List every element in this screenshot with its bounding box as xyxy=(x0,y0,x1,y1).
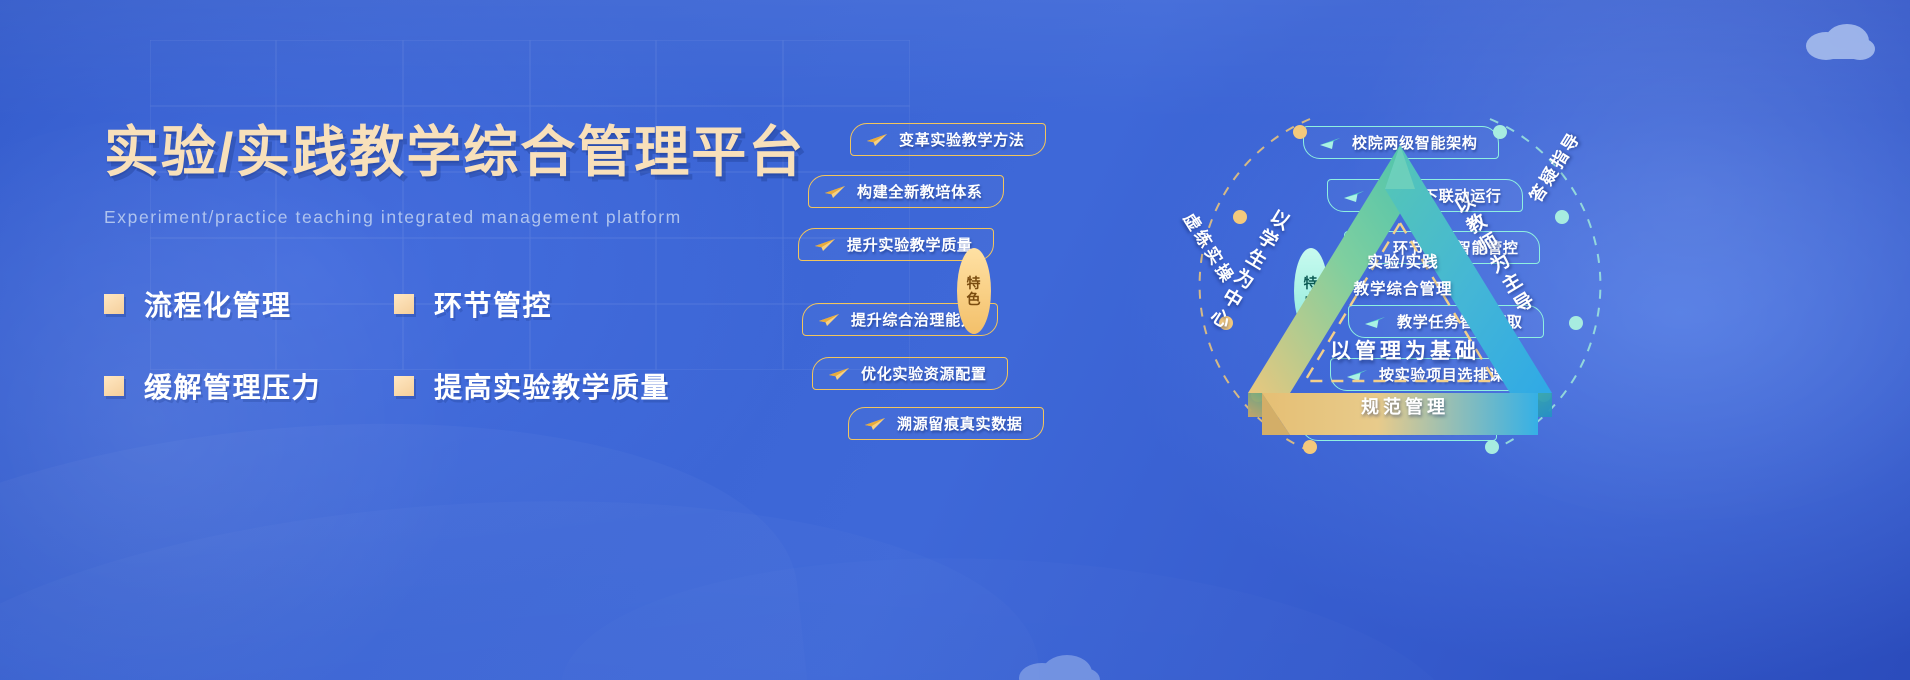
pill-label: 变革实验教学方法 xyxy=(899,129,1025,150)
left-pill-0[interactable]: 变革实验教学方法 xyxy=(850,123,1046,156)
paper-plane-icon xyxy=(818,313,840,327)
cloud-icon-bottom-center xyxy=(1012,646,1104,680)
hero-banner: 实验/实践教学综合管理平台 Experiment/practice teachi… xyxy=(0,0,1910,680)
feature-item-2: 缓解管理压力 xyxy=(104,366,384,406)
paper-plane-icon xyxy=(866,133,888,147)
feature-list: 流程化管理 环节管控 缓解管理压力 提高实验教学质量 xyxy=(104,284,864,406)
marker-char-2: 色 xyxy=(967,291,982,307)
pill-label: 构建全新教培体系 xyxy=(857,181,983,202)
feature-label: 提高实验教学质量 xyxy=(434,366,670,406)
hero-copy: 实验/实践教学综合管理平台 Experiment/practice teachi… xyxy=(104,118,864,406)
diagram-core-text: 实验/实践 教学综合管理 xyxy=(1318,249,1488,303)
paper-plane-icon xyxy=(814,238,836,252)
left-pill-4[interactable]: 优化实验资源配置 xyxy=(812,357,1008,390)
feature-item-1: 环节管控 xyxy=(394,284,864,324)
page-title: 实验/实践教学综合管理平台 xyxy=(104,118,864,187)
page-subtitle: Experiment/practice teaching integrated … xyxy=(104,207,864,228)
paper-plane-icon xyxy=(828,367,850,381)
triangle-edge-label-bottom: 以管理为基础 xyxy=(1260,335,1550,365)
core-line-2: 教学综合管理 xyxy=(1318,276,1488,303)
paper-plane-icon xyxy=(864,417,886,431)
pill-label: 提升实验教学质量 xyxy=(847,234,973,255)
cloud-icon-top-right xyxy=(1800,16,1876,62)
background-wave-2 xyxy=(0,464,1053,680)
bullet-square-icon xyxy=(394,376,414,396)
pill-label: 溯源留痕真实数据 xyxy=(897,413,1023,434)
feature-item-3: 提高实验教学质量 xyxy=(394,366,864,406)
orbit-label-bottom: 规范管理 xyxy=(1280,393,1530,419)
feature-label: 环节管控 xyxy=(434,284,552,324)
background-wave-3 xyxy=(553,537,1467,680)
paper-plane-icon xyxy=(824,185,846,199)
background-wave-1 xyxy=(0,376,819,680)
penrose-triangle-diagram: 虚练实操 答疑指导 规范管理 以学生为中心 以教师为主导 以管理为基础 实验/实… xyxy=(1150,95,1650,485)
left-pill-1[interactable]: 构建全新教培体系 xyxy=(808,175,1004,208)
pill-label: 提升综合治理能力 xyxy=(851,309,977,330)
bullet-square-icon xyxy=(104,294,124,314)
left-marker-tese: 特 色 xyxy=(957,248,991,334)
marker-char-1: 特 xyxy=(967,275,982,291)
bullet-square-icon xyxy=(394,294,414,314)
feature-label: 缓解管理压力 xyxy=(144,366,321,406)
left-pill-5[interactable]: 溯源留痕真实数据 xyxy=(848,407,1044,440)
core-line-1: 实验/实践 xyxy=(1318,249,1488,276)
pill-label: 优化实验资源配置 xyxy=(861,363,987,384)
feature-label: 流程化管理 xyxy=(144,284,292,324)
bullet-square-icon xyxy=(104,376,124,396)
feature-item-0: 流程化管理 xyxy=(104,284,384,324)
